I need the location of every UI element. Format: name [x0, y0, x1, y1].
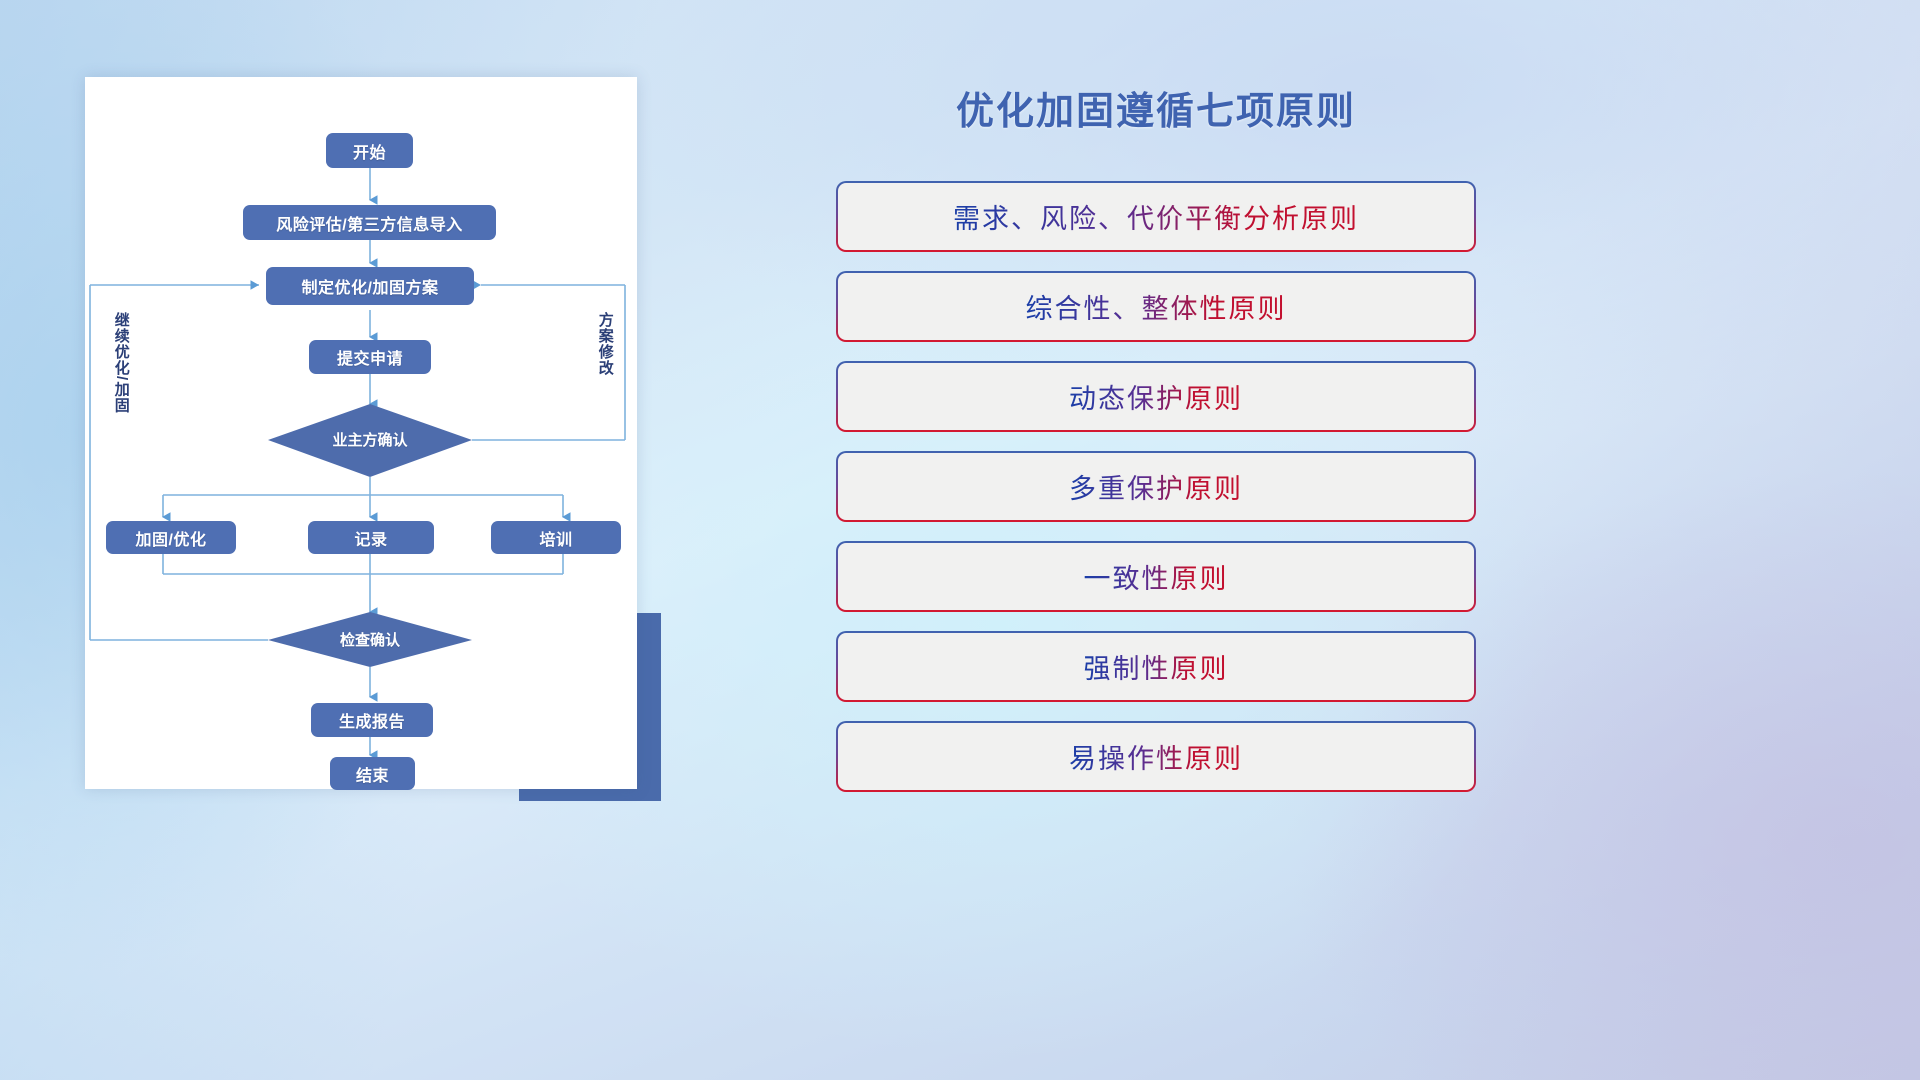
flow-node-submit[interactable]: 提交申请	[309, 340, 431, 374]
principle-card-inner: 动态保护原则	[838, 363, 1474, 430]
flow-node-owner-confirm-label: 业主方确认	[268, 429, 472, 450]
principle-card-inner: 一致性原则	[838, 543, 1474, 610]
flow-node-record-label: 记录	[354, 526, 387, 550]
flow-node-record[interactable]: 记录	[308, 521, 434, 554]
principle-card[interactable]: 一致性原则	[836, 541, 1476, 612]
flow-node-report-label: 生成报告	[339, 708, 405, 732]
principle-card[interactable]: 强制性原则	[836, 631, 1476, 702]
principle-card[interactable]: 多重保护原则	[836, 451, 1476, 522]
principle-card[interactable]: 动态保护原则	[836, 361, 1476, 432]
flow-node-submit-label: 提交申请	[337, 345, 403, 369]
flow-node-risk-assessment[interactable]: 风险评估/第三方信息导入	[243, 205, 496, 240]
principle-label: 强制性原则	[1084, 647, 1229, 686]
principle-card-inner: 强制性原则	[838, 633, 1474, 700]
flow-node-end[interactable]: 结束	[330, 757, 415, 790]
principle-label: 动态保护原则	[1069, 377, 1243, 416]
principle-card-inner: 综合性、整体性原则	[838, 273, 1474, 340]
flow-node-plan-label: 制定优化/加固方案	[302, 274, 439, 298]
flow-edge-label-left-loop: 继续优化/加固	[113, 312, 129, 432]
flowchart-card: 开始 风险评估/第三方信息导入 制定优化/加固方案 提交申请 业主方确认 加固/…	[85, 77, 637, 789]
principle-label: 一致性原则	[1084, 557, 1229, 596]
principles-list: 需求、风险、代价平衡分析原则 综合性、整体性原则 动态保护原则 多重保护原则 一…	[836, 181, 1476, 792]
principle-label: 需求、风险、代价平衡分析原则	[953, 197, 1359, 236]
principles-panel: 优化加固遵循七项原则 需求、风险、代价平衡分析原则 综合性、整体性原则 动态保护…	[836, 80, 1476, 820]
flow-node-start-label: 开始	[353, 139, 386, 163]
flow-node-plan[interactable]: 制定优化/加固方案	[266, 267, 474, 305]
principle-card[interactable]: 需求、风险、代价平衡分析原则	[836, 181, 1476, 252]
flow-node-reinforce-label: 加固/优化	[136, 526, 207, 550]
principle-card-inner: 易操作性原则	[838, 723, 1474, 790]
flow-edge-label-right-loop: 方案修改	[597, 312, 613, 422]
flow-node-reinforce[interactable]: 加固/优化	[106, 521, 236, 554]
principle-card-inner: 多重保护原则	[838, 453, 1474, 520]
principle-label: 综合性、整体性原则	[1026, 287, 1287, 326]
principle-label: 易操作性原则	[1069, 737, 1243, 776]
flow-node-risk-assessment-label: 风险评估/第三方信息导入	[276, 211, 462, 235]
principle-label: 多重保护原则	[1069, 467, 1243, 506]
flow-node-training-label: 培训	[539, 526, 572, 550]
flow-node-check-confirm-label: 检查确认	[268, 629, 472, 650]
flow-node-start[interactable]: 开始	[326, 133, 413, 168]
principles-title: 优化加固遵循七项原则	[836, 80, 1476, 135]
principle-card[interactable]: 易操作性原则	[836, 721, 1476, 792]
principle-card-inner: 需求、风险、代价平衡分析原则	[838, 183, 1474, 250]
flow-node-end-label: 结束	[356, 762, 389, 786]
flow-node-report[interactable]: 生成报告	[311, 703, 433, 737]
principle-card[interactable]: 综合性、整体性原则	[836, 271, 1476, 342]
flow-node-training[interactable]: 培训	[491, 521, 621, 554]
